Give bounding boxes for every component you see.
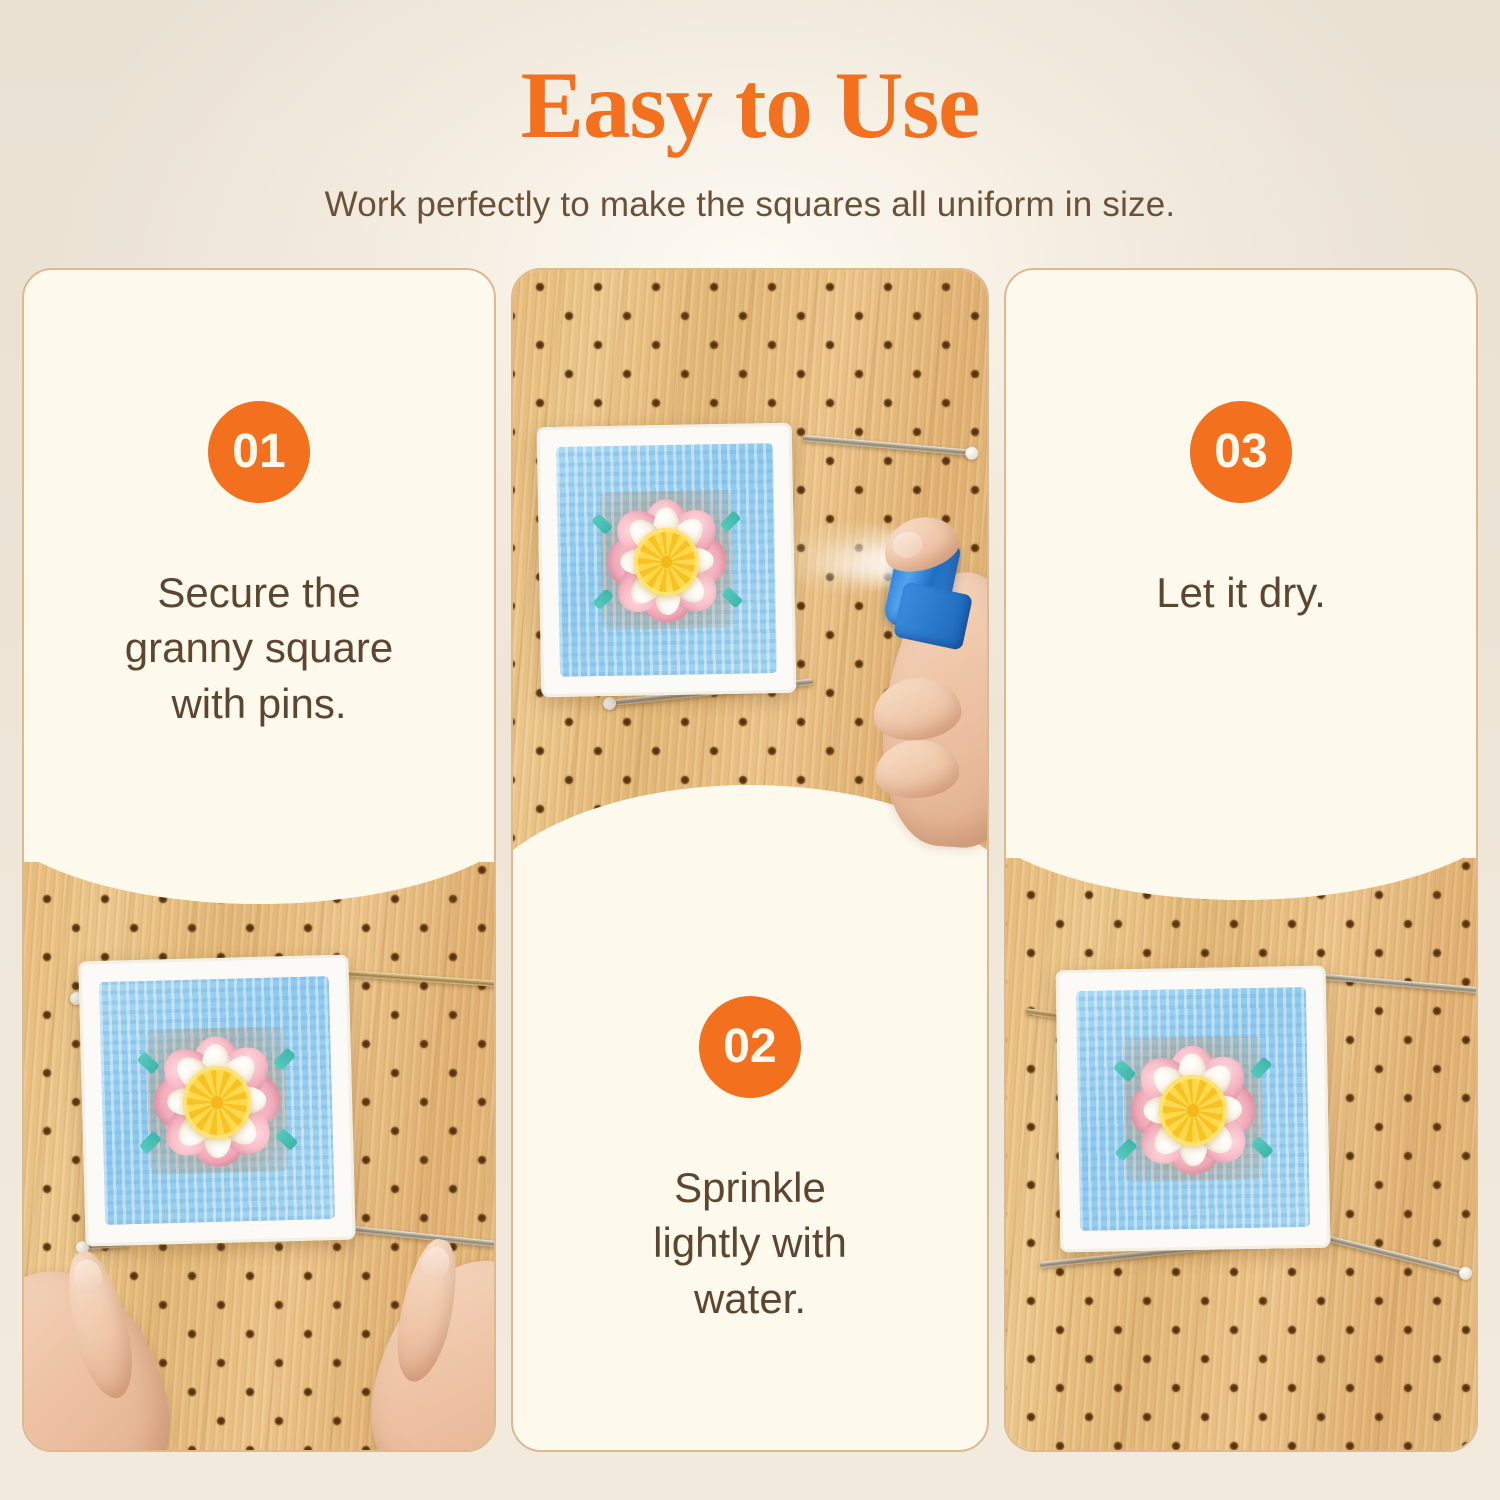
step-card-3: 03 Let it dry. <box>1004 268 1478 1452</box>
fingernail <box>70 1257 105 1297</box>
step-photo-2 <box>513 270 987 890</box>
step-photo-1 <box>24 840 494 1450</box>
granny-blue-field <box>1076 987 1310 1231</box>
step-text-03: Let it dry. <box>1006 565 1476 620</box>
granny-blue-field <box>556 443 777 676</box>
step-block-1: 01 Secure the granny square with pins. <box>24 401 494 731</box>
step-card-1: 01 Secure the granny square with pins. <box>22 268 496 1452</box>
step-block-3: 03 Let it dry. <box>1006 401 1476 620</box>
page-subtitle: Work perfectly to make the squares all u… <box>0 153 1500 225</box>
step-badge-03: 03 <box>1190 401 1292 503</box>
step-badge-01: 01 <box>208 401 310 503</box>
step-text-02: Sprinkle lightly with water. <box>513 1160 987 1326</box>
granny-square <box>537 423 797 697</box>
step-card-2: 02 Sprinkle lightly with water. <box>511 268 989 1452</box>
page-title: Easy to Use <box>0 0 1500 153</box>
step-block-2: 02 Sprinkle lightly with water. <box>513 996 987 1326</box>
fingernail <box>419 1244 452 1282</box>
granny-square <box>78 955 355 1247</box>
step-badge-02: 02 <box>699 996 801 1098</box>
step-photo-3 <box>1006 840 1476 1450</box>
step-text-01: Secure the granny square with pins. <box>24 565 494 731</box>
granny-blue-field <box>99 976 335 1224</box>
granny-square <box>1056 966 1331 1253</box>
header: Easy to Use Work perfectly to make the s… <box>0 0 1500 250</box>
thumbnail <box>890 528 926 561</box>
